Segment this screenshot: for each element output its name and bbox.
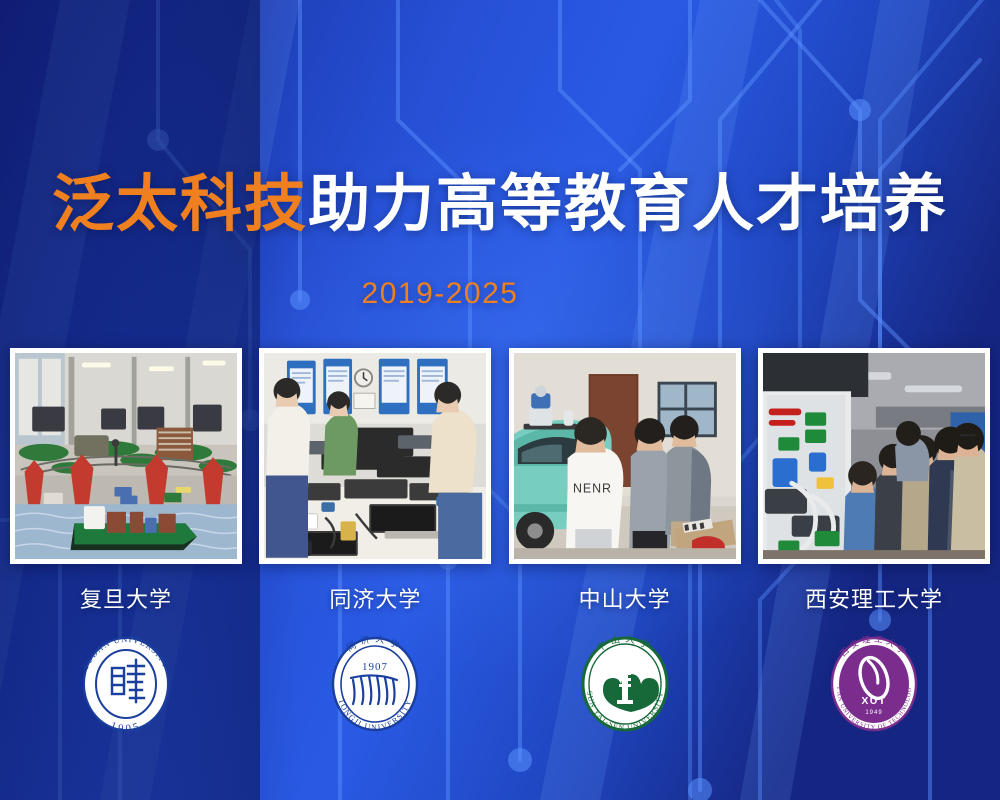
svg-text:XUT: XUT [861, 695, 886, 707]
university-name: 复旦大学 [80, 582, 172, 614]
page-title: 泛太科技助力高等教育人才培养 [0, 172, 1000, 239]
photo-frame [758, 348, 990, 564]
university-card: NENR [509, 348, 741, 740]
xian-university-of-technology-logo: 西安理工大学 XI'AN UNIVERSITY OF TECHNOLOGY XU… [818, 628, 930, 740]
tongji-university-logo: 同济大学 TONGJI UNIVERSITY 1907 [319, 628, 431, 740]
title-block: 泛太科技助力高等教育人才培养 [0, 172, 1000, 239]
fudan-university-logo: FUDAN UNIVERSITY 1905 [70, 628, 182, 740]
photo-smart-city-model [15, 353, 237, 560]
university-card: 西安理工大学 西安理工大学 XI'AN UNIVERSITY OF TECHNO… [758, 348, 990, 740]
photo-industrial-training-visit [763, 353, 985, 560]
photo-frame [259, 348, 491, 564]
svg-text:1949: 1949 [865, 710, 882, 716]
title-tagline: 助力高等教育人才培养 [308, 170, 948, 239]
university-name: 中山大学 [579, 582, 671, 614]
university-name: 西安理工大学 [805, 582, 943, 614]
university-card-row: 复旦大学 FUDAN UNIVERSITY 1905 [0, 348, 1000, 740]
university-name: 同济大学 [329, 582, 421, 614]
university-card: 同济大学 同济大学 TONGJI UNIVERSITY 1907 [259, 348, 491, 740]
university-card: 复旦大学 FUDAN UNIVERSITY 1905 [10, 348, 242, 740]
title-brand: 泛太科技 [52, 170, 308, 239]
promo-slide: 泛太科技助力高等教育人才培养 2019-2025 [0, 0, 1000, 800]
subtitle-year-range: 2019-2025 [0, 277, 1000, 311]
sun-yat-sen-university-logo: 中山大学 SUN YAT-SEN UNIVERSITY [569, 628, 681, 740]
photo-frame: NENR [509, 348, 741, 564]
photo-frame [10, 348, 242, 564]
svg-text:NENR: NENR [573, 482, 612, 496]
photo-lab-equipment-session [264, 353, 486, 560]
svg-text:1907: 1907 [362, 661, 388, 673]
photo-autonomous-vehicle-lab: NENR [514, 353, 736, 560]
